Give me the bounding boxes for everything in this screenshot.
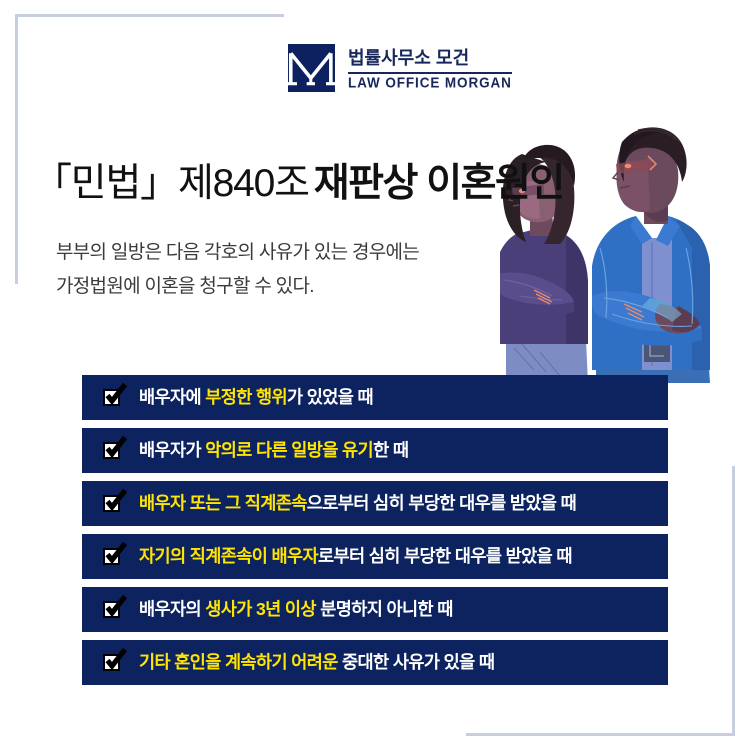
list-item: 배우자의 생사가 3년 이상 분명하지 아니한 때 (82, 587, 668, 632)
logo-wordmark: 법률사무소모건 LAW OFFICE MORGAN (348, 44, 512, 90)
checkbox-checked-icon (103, 440, 125, 462)
page-subtitle: 부부의 일방은 다음 각호의 사유가 있는 경우에는 가정법원에 이혼을 청구할… (56, 236, 419, 304)
text-highlight: 생사가 3년 이상 (205, 599, 316, 619)
list-item: 기타 혼인을 계속하기 어려운 중대한 사유가 있을 때 (82, 640, 668, 685)
list-item-text: 자기의 직계존속이 배우자로부터 심히 부당한 대우를 받았을 때 (139, 548, 572, 566)
logo-name-english: LAW OFFICE MORGAN (348, 76, 512, 92)
logo-name-main: 모건 (436, 48, 470, 68)
list-item: 배우자가 악의로 다른 일방을 유기한 때 (82, 428, 668, 473)
checkbox-checked-icon (103, 493, 125, 515)
text-highlight: 배우자 또는 그 직계존속 (139, 493, 307, 513)
text-post: 로부터 심히 부당한 대우를 받았을 때 (318, 546, 572, 566)
text-post: 한 때 (373, 440, 408, 460)
logo-mark-icon (288, 44, 335, 92)
logo-divider (348, 72, 512, 74)
list-item-text: 배우자의 생사가 3년 이상 분명하지 아니한 때 (139, 601, 453, 619)
text-post: 중대한 사유가 있을 때 (338, 652, 495, 672)
text-highlight: 기타 혼인을 계속하기 어려운 (139, 652, 338, 672)
couple-back-to-back-illustration (500, 108, 750, 383)
page-title-subject: 재판상 이혼원인 (314, 162, 564, 205)
logo-name-prefix: 법률사무소 (348, 48, 431, 68)
list-item: 자기의 직계존속이 배우자로부터 심히 부당한 대우를 받았을 때 (82, 534, 668, 579)
page-subtitle-line-2: 가정법원에 이혼을 청구할 수 있다. (56, 270, 419, 304)
list-item-text: 배우자 또는 그 직계존속으로부터 심히 부당한 대우를 받았을 때 (139, 495, 576, 513)
text-post: 가 있었을 때 (287, 387, 373, 407)
text-post: 으로부터 심히 부당한 대우를 받았을 때 (307, 493, 576, 513)
logo-name-korean: 법률사무소모건 (348, 47, 512, 70)
list-item-text: 배우자에 부정한 행위가 있었을 때 (139, 389, 373, 407)
text-post: 분명하지 아니한 때 (316, 599, 453, 619)
list-item: 배우자 또는 그 직계존속으로부터 심히 부당한 대우를 받았을 때 (82, 481, 668, 526)
text-pre: 배우자가 (139, 440, 205, 460)
brand-logo: 법률사무소모건 LAW OFFICE MORGAN (288, 44, 512, 92)
page-title: 「민법」제840조재판상 이혼원인 (33, 160, 564, 208)
infographic-page: 법률사무소모건 LAW OFFICE MORGAN (0, 0, 750, 750)
page-subtitle-line-1: 부부의 일방은 다음 각호의 사유가 있는 경우에는 (56, 236, 419, 270)
checkbox-checked-icon (103, 652, 125, 674)
text-pre: 배우자에 (139, 387, 205, 407)
list-item-text: 기타 혼인을 계속하기 어려운 중대한 사유가 있을 때 (139, 654, 494, 672)
text-highlight: 부정한 행위 (205, 387, 287, 407)
checkbox-checked-icon (103, 599, 125, 621)
checkbox-checked-icon (103, 387, 125, 409)
text-highlight: 악의로 다른 일방을 유기 (205, 440, 373, 460)
list-item: 배우자에 부정한 행위가 있었을 때 (82, 375, 668, 420)
text-pre: 배우자의 (139, 599, 205, 619)
list-item-text: 배우자가 악의로 다른 일방을 유기한 때 (139, 442, 408, 460)
grounds-list: 배우자에 부정한 행위가 있었을 때 배우자가 악의로 다른 일방을 유기한 때… (82, 375, 668, 685)
page-title-law-reference: 「민법」제840조 (33, 162, 309, 205)
text-highlight: 자기의 직계존속이 배우자 (139, 546, 318, 566)
checkbox-checked-icon (103, 546, 125, 568)
